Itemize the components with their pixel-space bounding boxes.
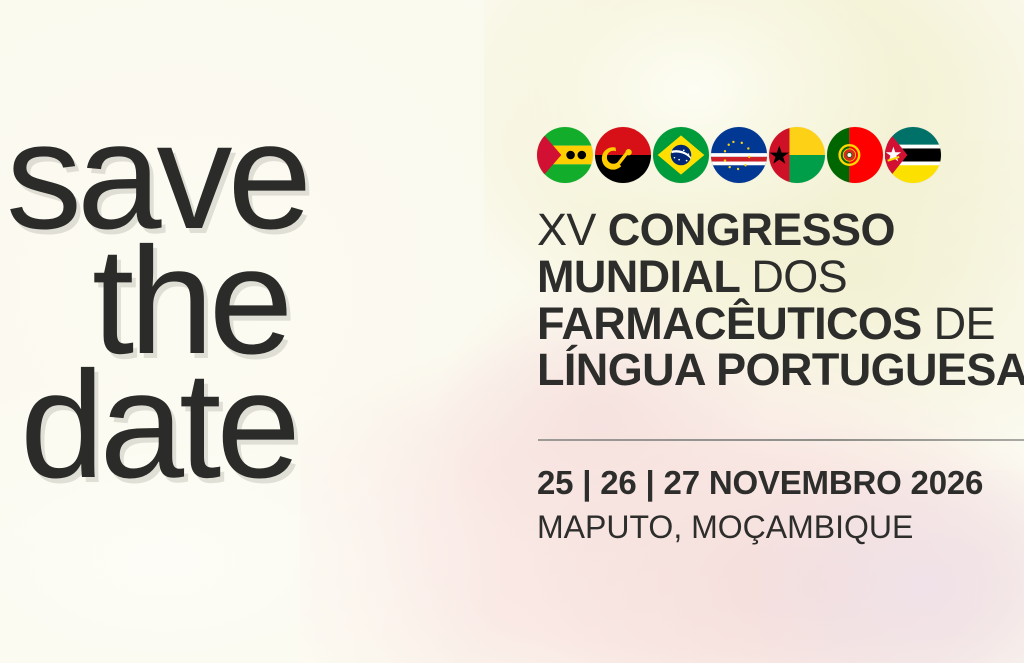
headline-farmaceuticos: FARMACÊUTICOS — [537, 298, 934, 349]
headline-line-1: XV CONGRESSO — [537, 207, 1024, 254]
headline-congresso: CONGRESSO — [608, 204, 895, 255]
flag-cabo-verde-icon — [711, 127, 767, 183]
headline-xv: XV — [537, 204, 608, 255]
headline-mundial: MUNDIAL — [537, 251, 751, 302]
headline-line-3: FARMACÊUTICOS DE — [537, 301, 1024, 348]
save-the-date-block: save the date — [6, 114, 476, 488]
event-date: 25 | 26 | 27 NOVEMBRO 2026 — [537, 462, 983, 503]
headline-line-2: MUNDIAL DOS — [537, 254, 1024, 301]
headline-dos: DOS — [751, 251, 847, 302]
flag-mocambique-icon — [885, 127, 941, 183]
save-the-date-line-3: date — [6, 363, 476, 488]
flag-sao-tome-e-principe-icon — [537, 127, 593, 183]
event-place: MAPUTO, MOÇAMBIQUE — [537, 507, 983, 549]
flag-guine-bissau-icon — [769, 127, 825, 183]
flag-portugal-icon — [827, 127, 883, 183]
flag-angola-icon — [595, 127, 651, 183]
headline-de: DE — [934, 298, 995, 349]
headline-lingua-portuguesa: LÍNGUA PORTUGUESA — [537, 344, 1024, 395]
event-headline: XV CONGRESSO MUNDIAL DOS FARMACÊUTICOS D… — [537, 207, 1024, 394]
flag-brasil-icon — [653, 127, 709, 183]
event-info-block: XV CONGRESSO MUNDIAL DOS FARMACÊUTICOS D… — [537, 0, 1024, 663]
horizontal-divider — [538, 439, 1024, 441]
poster-canvas: save the date — [0, 0, 1024, 663]
headline-line-4: LÍNGUA PORTUGUESA — [537, 347, 1024, 394]
event-footer: 25 | 26 | 27 NOVEMBRO 2026 MAPUTO, MOÇAM… — [537, 462, 983, 549]
flag-row — [537, 127, 941, 183]
